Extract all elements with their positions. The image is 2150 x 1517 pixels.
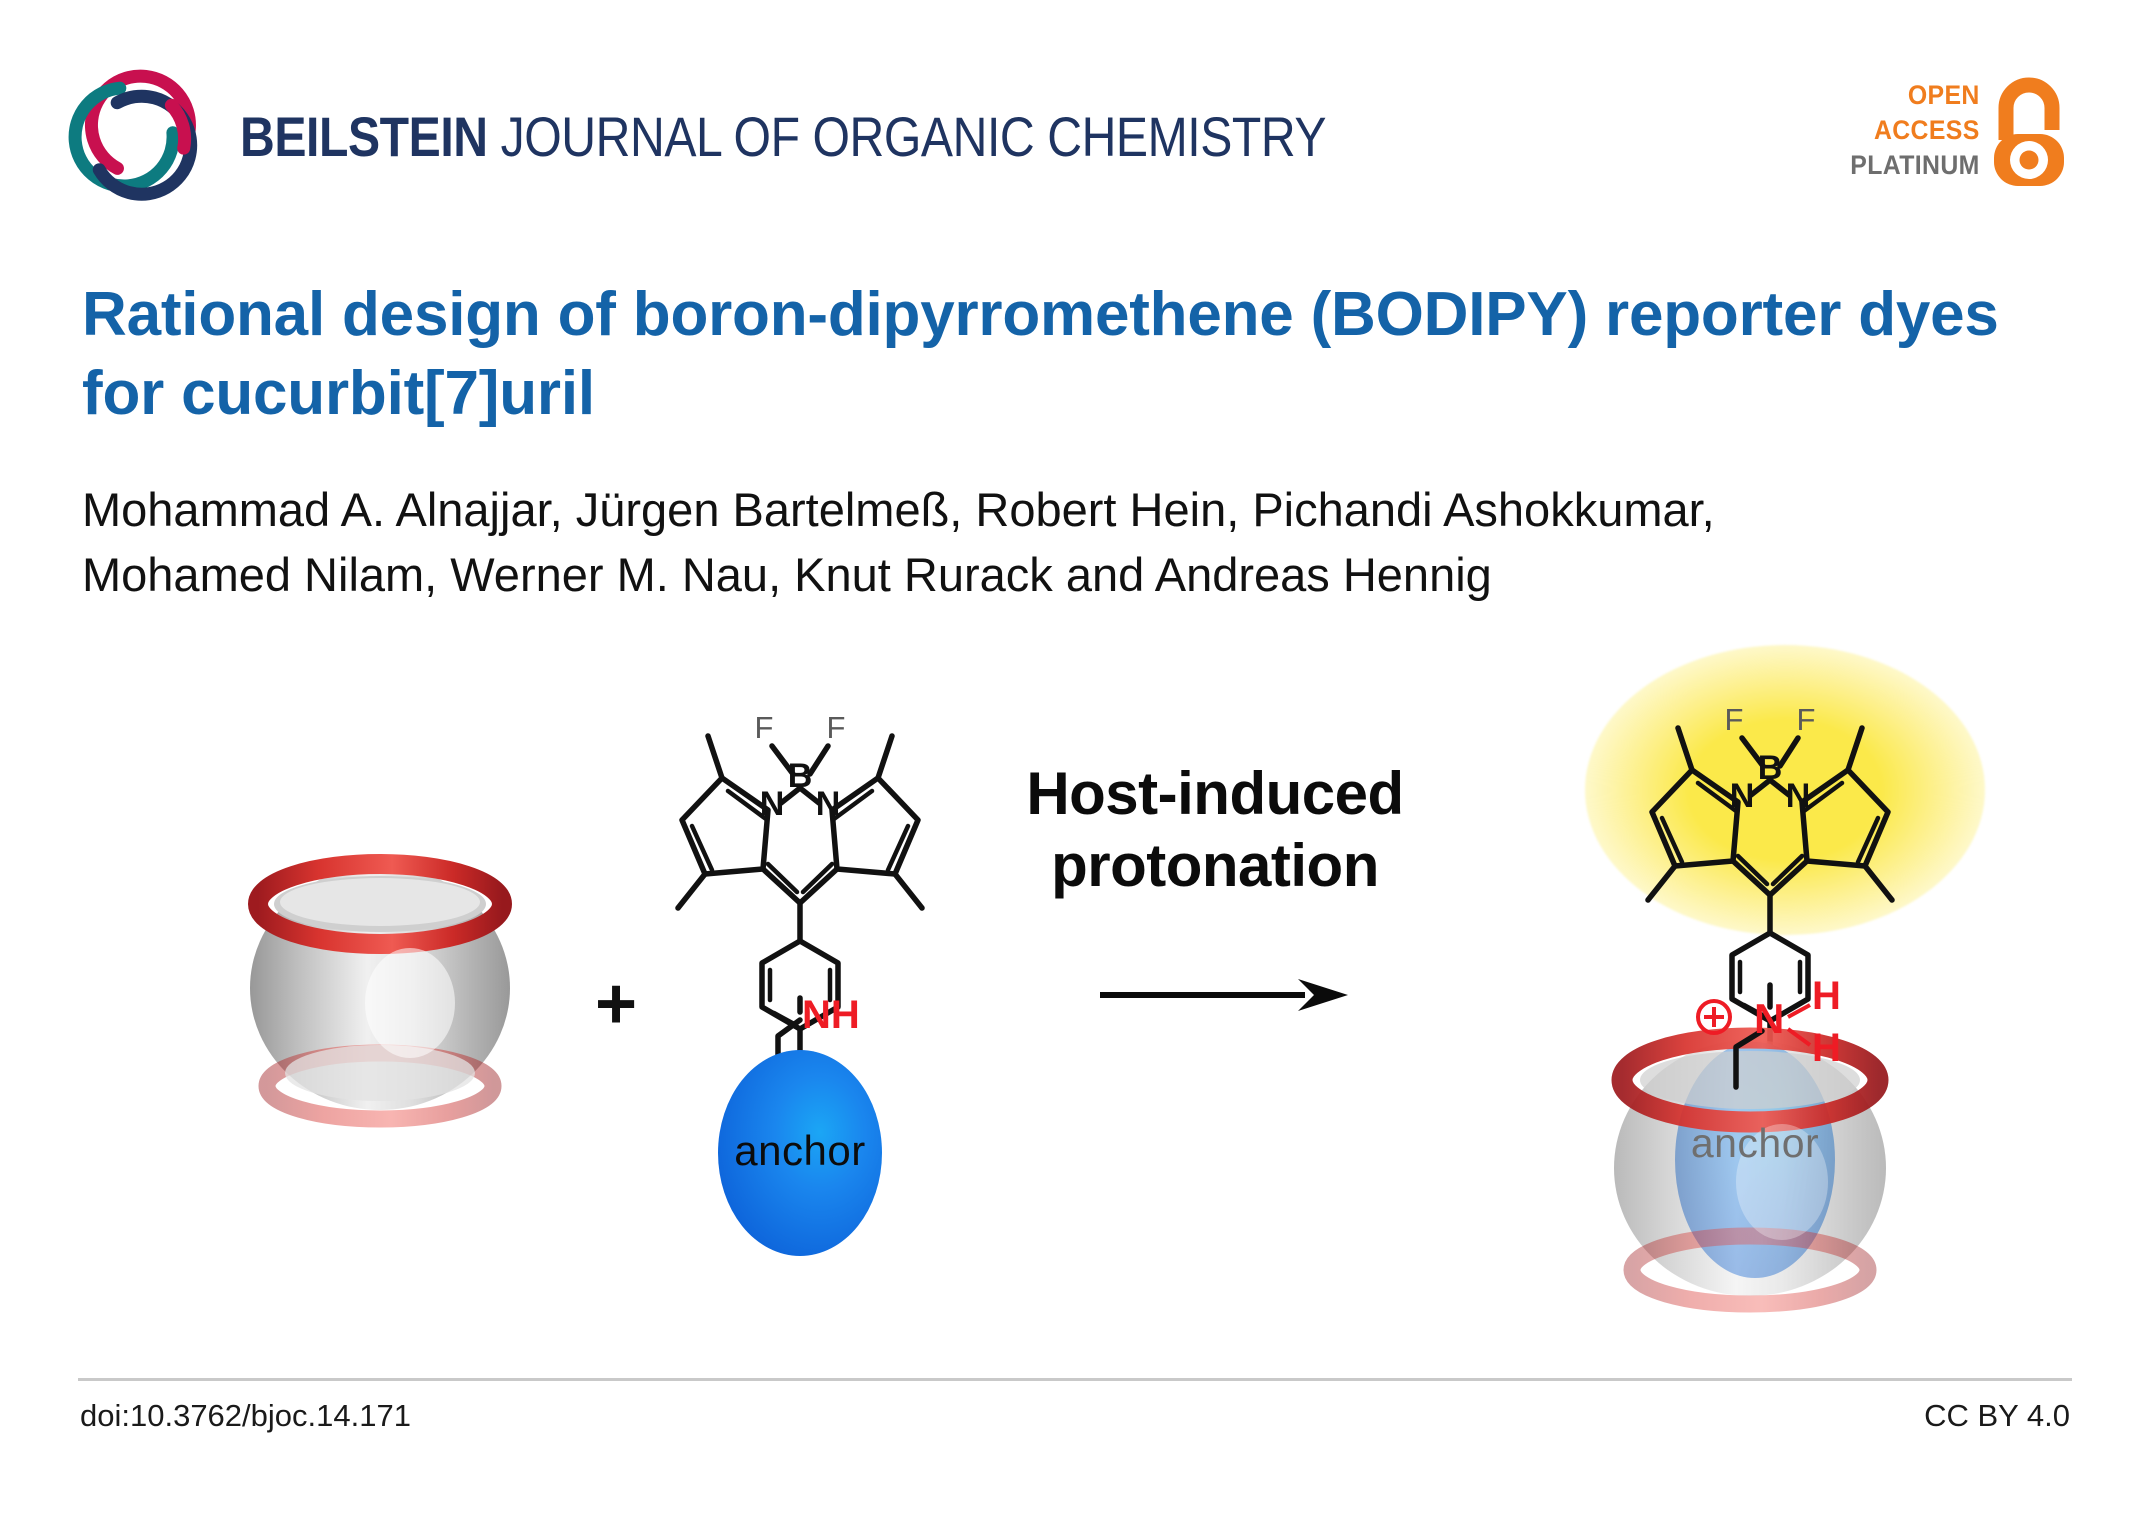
- positive-charge-icon: [1698, 1001, 1730, 1033]
- open-access-line1: OPEN: [1851, 78, 1980, 113]
- right-arrow-icon: [1100, 975, 1350, 1015]
- atom-label-F-left: F: [755, 710, 774, 745]
- atom-label-F-right: F: [1797, 702, 1816, 737]
- license-text: CC BY 4.0: [1924, 1398, 2070, 1434]
- open-padlock-icon: [1986, 78, 2072, 190]
- anchor-ellipse-free: anchor: [700, 1043, 900, 1258]
- author-line-1: Mohammad A. Alnajjar, Jürgen Bartelmeß, …: [82, 478, 1982, 543]
- open-access-line2: ACCESS: [1851, 113, 1980, 148]
- open-access-badge: OPEN ACCESS PLATINUM: [1842, 78, 2072, 193]
- footer-divider: [78, 1378, 2072, 1381]
- author-line-2: Mohamed Nilam, Werner M. Nau, Knut Rurac…: [82, 543, 1982, 608]
- atom-label-B: B: [788, 757, 813, 795]
- atom-label-N-left: N: [760, 785, 785, 823]
- open-access-text: OPEN ACCESS PLATINUM: [1851, 78, 1980, 183]
- journal-title-bold: BEILSTEIN: [240, 105, 488, 168]
- author-list: Mohammad A. Alnajjar, Jürgen Bartelmeß, …: [82, 478, 1982, 608]
- nh-label: NH: [802, 993, 860, 1037]
- h-label-upper: H: [1812, 974, 1841, 1018]
- page-header: BEILSTEIN JOURNAL OF ORGANIC CHEMISTRY O…: [0, 0, 2150, 205]
- atom-label-F-right: F: [827, 710, 846, 745]
- anchor-label-free: anchor: [700, 1127, 900, 1175]
- n-label: N: [1754, 995, 1784, 1042]
- open-access-line3: PLATINUM: [1851, 148, 1980, 183]
- doi-text: doi:10.3762/bjoc.14.171: [80, 1398, 411, 1434]
- journal-title: BEILSTEIN JOURNAL OF ORGANIC CHEMISTRY: [240, 104, 1326, 169]
- atom-label-F-left: F: [1725, 702, 1744, 737]
- atom-label-N-right: N: [1786, 777, 1811, 815]
- anchor-label-bound: anchor: [1650, 1120, 1860, 1167]
- beilstein-spiral-logo: [78, 78, 193, 193]
- reaction-label-line-2: protonation: [980, 830, 1450, 902]
- atom-label-B: B: [1758, 749, 1783, 787]
- journal-title-light: JOURNAL OF ORGANIC CHEMISTRY: [488, 105, 1326, 168]
- h-label-lower: H: [1812, 1026, 1841, 1070]
- page-title: Rational design of boron-dipyrromethene …: [82, 275, 2062, 434]
- ammonium-group-protonated: N H H: [1640, 975, 1940, 1105]
- reaction-label: Host-induced protonation: [980, 758, 1450, 902]
- reaction-label-line-1: Host-induced: [980, 758, 1450, 830]
- plus-sign: +: [595, 968, 637, 1040]
- poster-page: BEILSTEIN JOURNAL OF ORGANIC CHEMISTRY O…: [0, 0, 2150, 1517]
- atom-label-N-left: N: [1730, 777, 1755, 815]
- atom-label-N-right: N: [816, 785, 841, 823]
- cucurbit7uril-barrel-icon: [225, 828, 535, 1128]
